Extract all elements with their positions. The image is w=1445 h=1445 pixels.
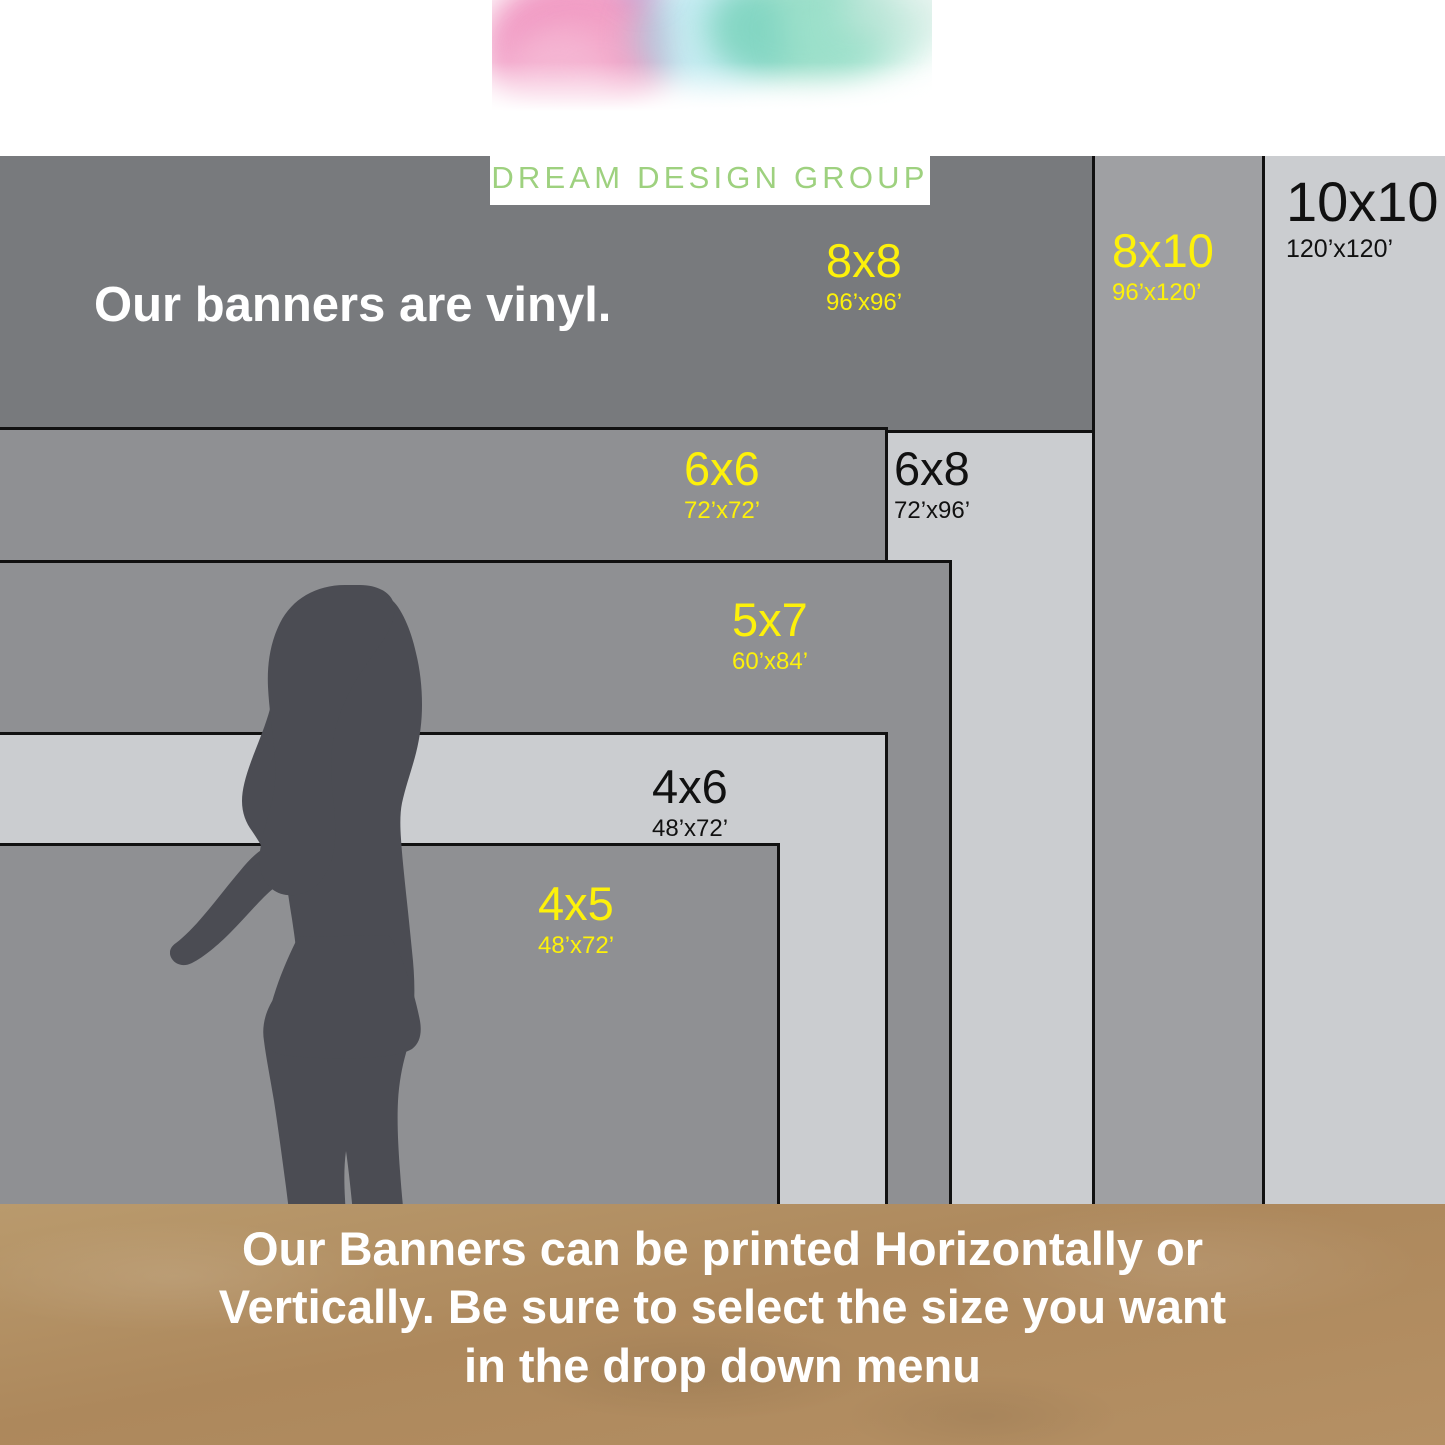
caption-line-1: Our Banners can be printed Horizontally … <box>0 1220 1445 1278</box>
label-6x6: 6x6 72’x72’ <box>684 445 760 523</box>
label-6x6-dims: 72’x72’ <box>684 499 760 523</box>
label-6x8: 6x8 72’x96’ <box>894 445 970 523</box>
watercolor-splash-icon <box>492 0 932 118</box>
label-4x5-size: 4x5 <box>538 880 614 927</box>
size-diagram-wall: Our banners are vinyl. 8x8 96’x96’ 8x10 … <box>0 155 1445 1204</box>
label-8x10: 8x10 96’x120’ <box>1112 227 1214 305</box>
label-4x6: 4x6 48’x72’ <box>652 763 728 841</box>
label-4x6-size: 4x6 <box>652 763 728 810</box>
label-10x10: 10x10 120’x120’ <box>1286 174 1439 262</box>
caption-line-3: in the drop down menu <box>0 1337 1445 1395</box>
banner-size-chart: Our banners are vinyl. 8x8 96’x96’ 8x10 … <box>0 0 1445 1445</box>
label-8x8-dims: 96’x96’ <box>826 291 902 315</box>
caption-line-2: Vertically. Be sure to select the size y… <box>0 1278 1445 1336</box>
floor-caption-band: Our Banners can be printed Horizontally … <box>0 1204 1445 1445</box>
brand-logo[interactable]: DREAM DESIGN GROUP <box>490 150 930 205</box>
label-10x10-dims: 120’x120’ <box>1286 237 1439 262</box>
woman-silhouette-svg <box>170 585 520 1204</box>
banner-rect-10x10[interactable] <box>1262 155 1445 1204</box>
label-8x10-size: 8x10 <box>1112 227 1214 274</box>
label-5x7-size: 5x7 <box>732 596 808 643</box>
logo-area <box>0 0 1445 156</box>
label-4x6-dims: 48’x72’ <box>652 817 728 841</box>
brand-name: DREAM DESIGN GROUP <box>491 160 928 196</box>
page-title: Our banners are vinyl. <box>94 277 611 333</box>
caption-text: Our Banners can be printed Horizontally … <box>0 1220 1445 1395</box>
label-4x5: 4x5 48’x72’ <box>538 880 614 958</box>
woman-silhouette-icon <box>170 585 520 1204</box>
label-10x10-size: 10x10 <box>1286 174 1439 230</box>
banner-rect-8x10[interactable] <box>1092 155 1265 1204</box>
label-5x7: 5x7 60’x84’ <box>732 596 808 674</box>
label-8x10-dims: 96’x120’ <box>1112 281 1214 305</box>
label-4x5-dims: 48’x72’ <box>538 934 614 958</box>
label-8x8: 8x8 96’x96’ <box>826 237 902 315</box>
label-6x8-dims: 72’x96’ <box>894 499 970 523</box>
label-6x8-size: 6x8 <box>894 445 970 492</box>
label-5x7-dims: 60’x84’ <box>732 650 808 674</box>
label-6x6-size: 6x6 <box>684 445 760 492</box>
label-8x8-size: 8x8 <box>826 237 902 284</box>
